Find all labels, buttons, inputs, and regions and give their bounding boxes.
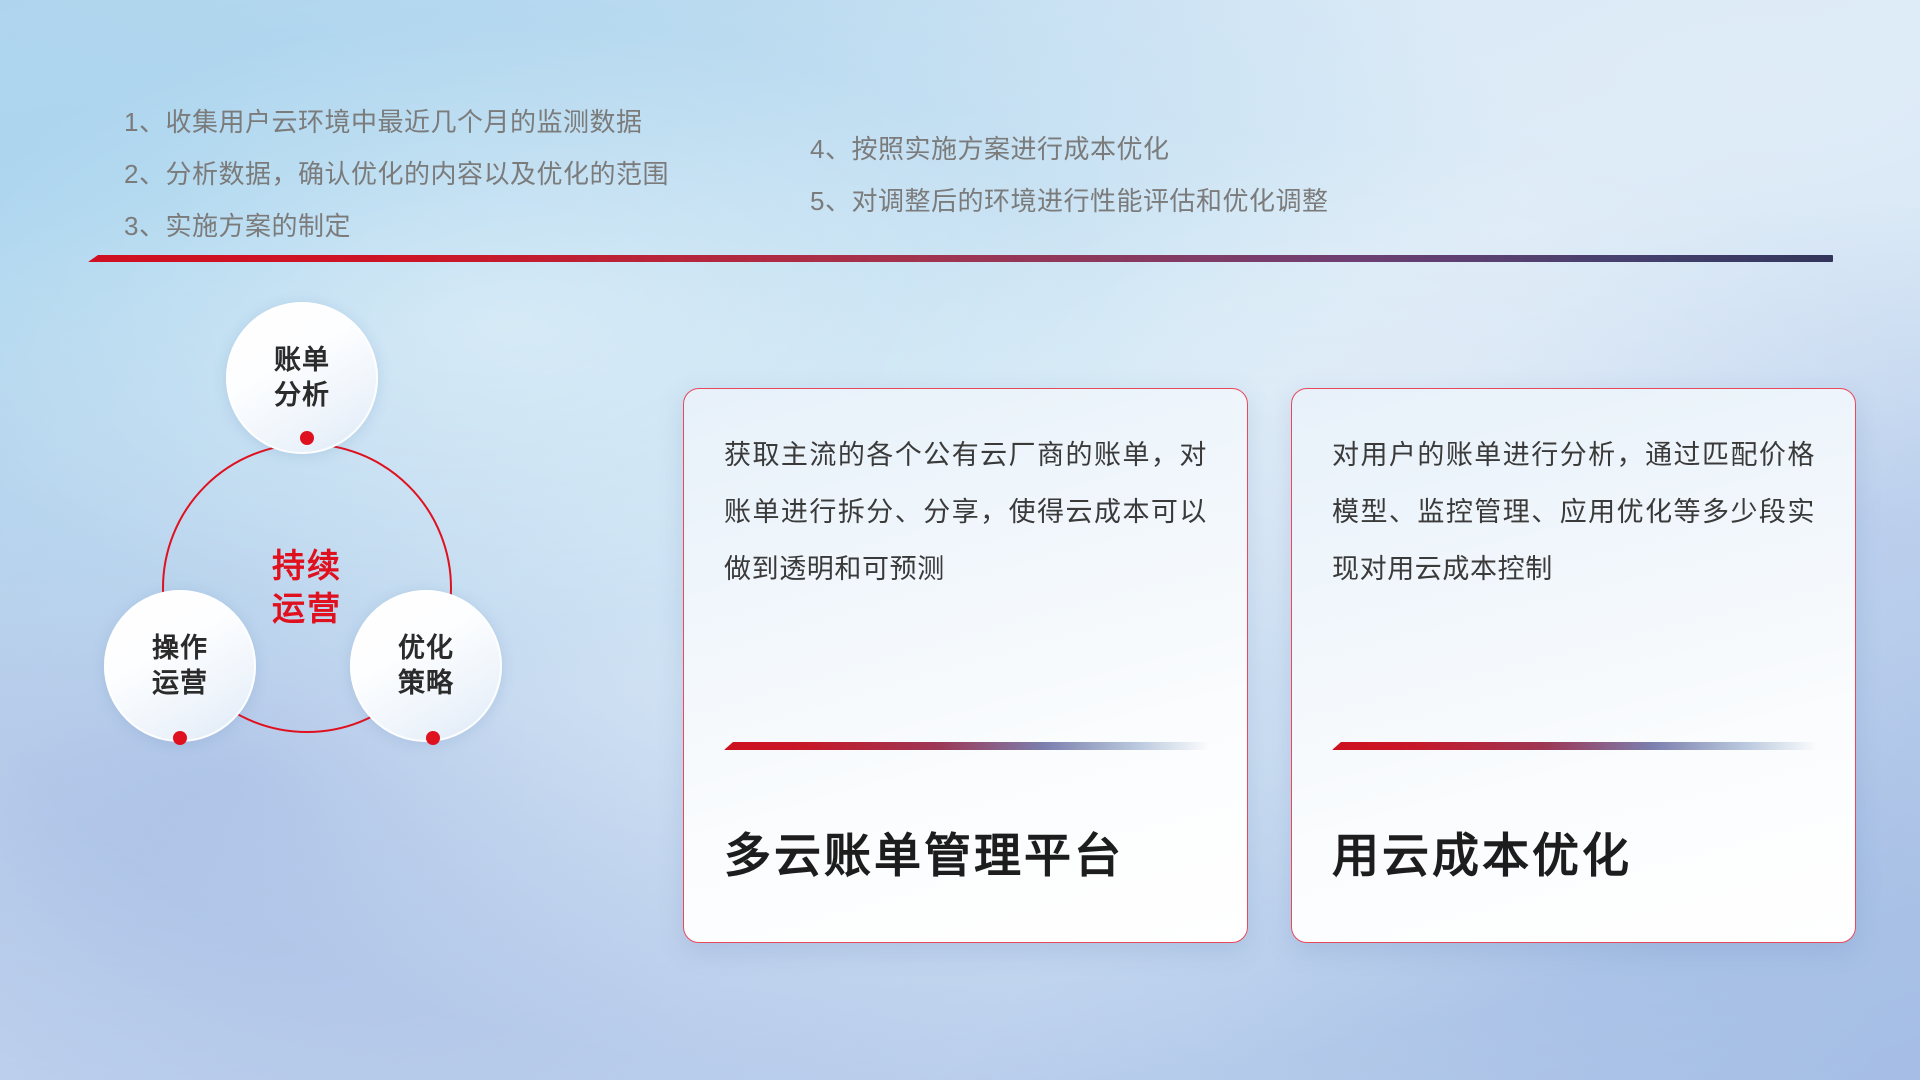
center-label-line-1: 持续: [272, 545, 342, 588]
card2-title: 用云成本优化: [1332, 817, 1632, 886]
bubble-bill-analysis-line-1: 账单: [274, 343, 330, 378]
card1-body: 获取主流的各个公有云厂商的账单，对账单进行拆分、分享，使得云成本可以做到透明和可…: [724, 427, 1207, 599]
bubble-bill-analysis[interactable]: 账单 分析: [226, 302, 378, 454]
step-item-4: 4、按照实施方案进行成本优化: [810, 123, 1328, 175]
step-item-3: 3、实施方案的制定: [124, 200, 669, 252]
bubble-ops-operation-line-2: 运营: [152, 666, 208, 701]
bubble-ops-operation[interactable]: 操作 运营: [104, 590, 256, 742]
bubble-ops-operation-line-1: 操作: [152, 631, 208, 666]
step-item-5: 5、对调整后的环境进行性能评估和优化调整: [810, 175, 1328, 227]
steps-left-column: 1、收集用户云环境中最近几个月的监测数据 2、分析数据，确认优化的内容以及优化的…: [124, 96, 669, 252]
connector-dot-top: [300, 431, 314, 445]
step-item-1: 1、收集用户云环境中最近几个月的监测数据: [124, 96, 669, 148]
connector-dot-bottom-right: [426, 731, 440, 745]
card2-divider-line: [1332, 742, 1817, 750]
card-cloud-cost-optimization[interactable]: 对用户的账单进行分析，通过匹配价格模型、监控管理、应用优化等多少段实现对用云成本…: [1291, 388, 1856, 943]
card2-body: 对用户的账单进行分析，通过匹配价格模型、监控管理、应用优化等多少段实现对用云成本…: [1332, 427, 1815, 599]
card-multi-cloud-billing-platform[interactable]: 获取主流的各个公有云厂商的账单，对账单进行拆分、分享，使得云成本可以做到透明和可…: [683, 388, 1248, 943]
bubble-optimize-policy-line-1: 优化: [398, 631, 454, 666]
bubble-optimize-policy[interactable]: 优化 策略: [350, 590, 502, 742]
card1-divider-line: [724, 742, 1209, 750]
bubble-bill-analysis-line-2: 分析: [274, 378, 330, 413]
header-divider-line: [88, 255, 1833, 262]
steps-right-column: 4、按照实施方案进行成本优化 5、对调整后的环境进行性能评估和优化调整: [810, 123, 1328, 227]
card1-title: 多云账单管理平台: [724, 817, 1124, 886]
continuous-operation-diagram: 持续 运营 账单 分析 操作 运营 优化 策略: [78, 288, 548, 768]
step-item-2: 2、分析数据，确认优化的内容以及优化的范围: [124, 148, 669, 200]
bubble-optimize-policy-line-2: 策略: [398, 666, 454, 701]
connector-dot-bottom-left: [173, 731, 187, 745]
center-label-line-2: 运营: [272, 588, 342, 631]
